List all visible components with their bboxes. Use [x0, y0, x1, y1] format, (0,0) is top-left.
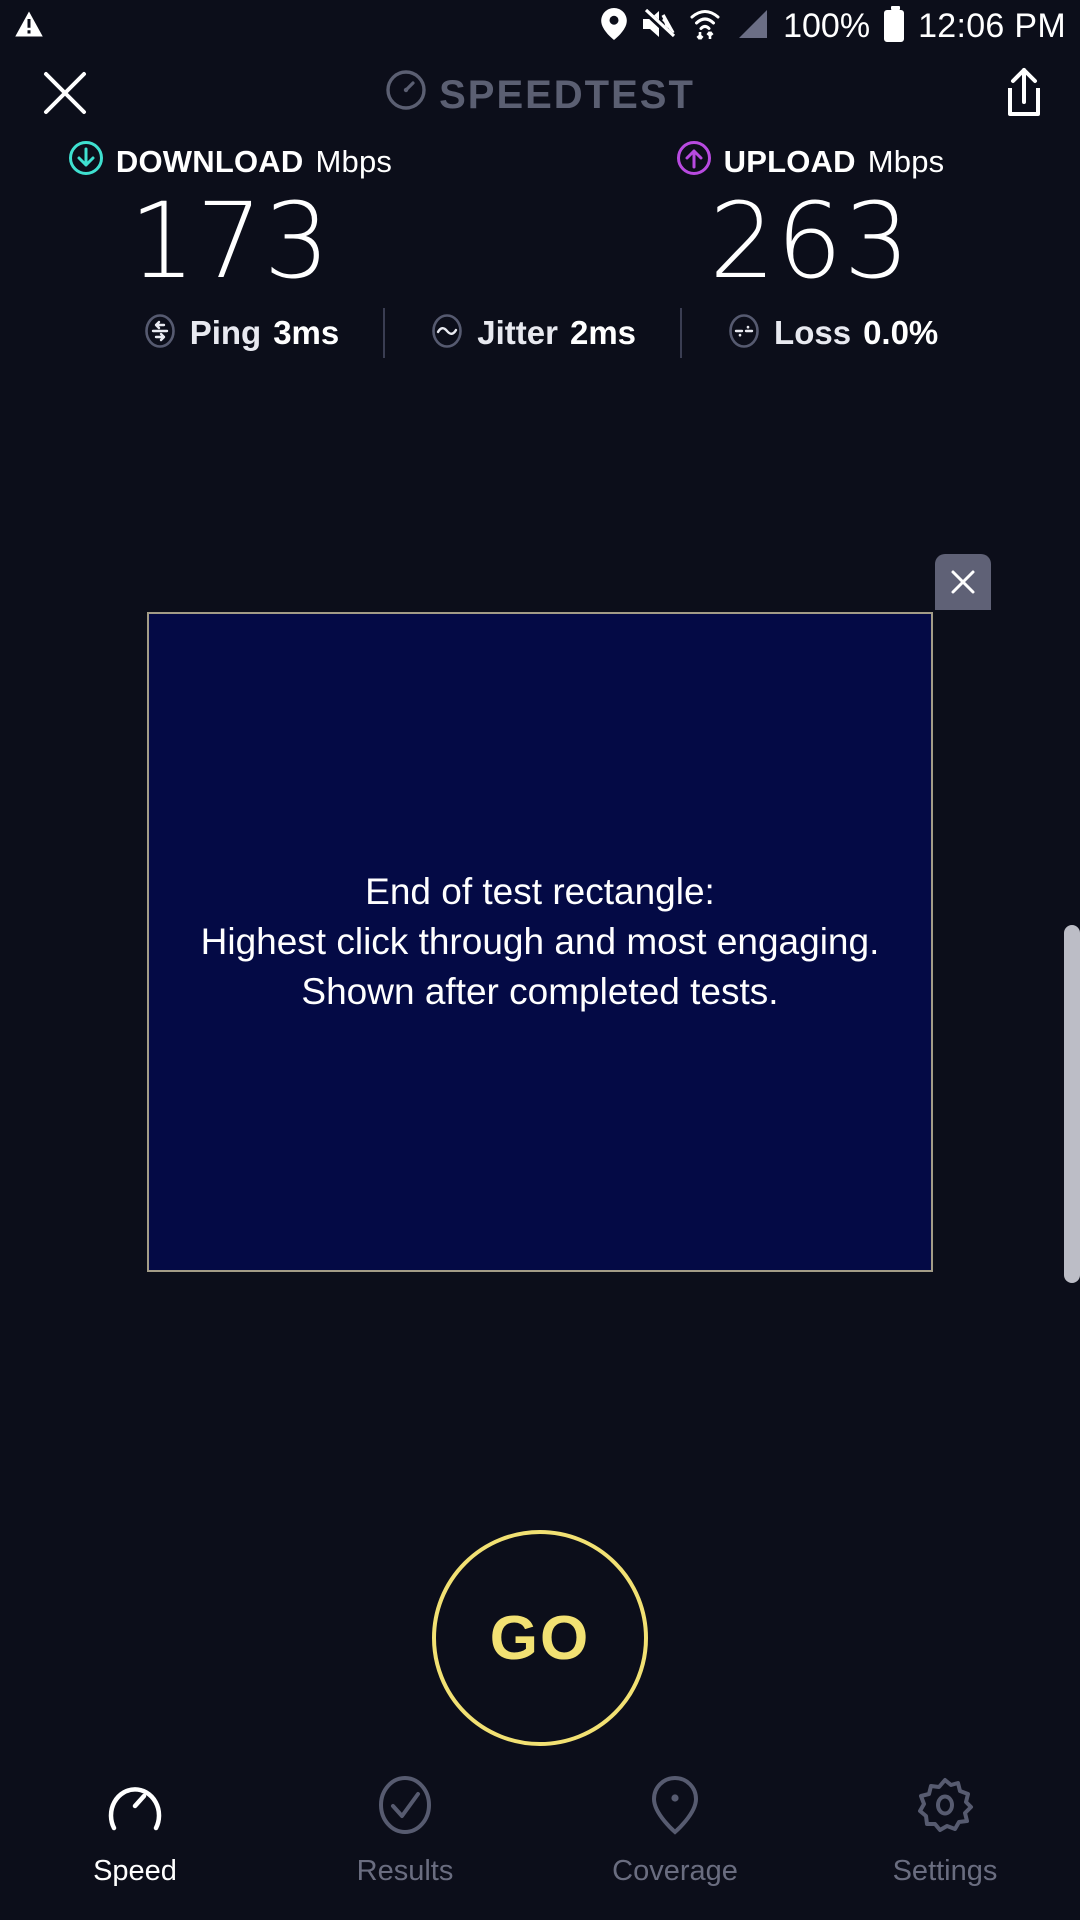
nav-item-coverage[interactable]: Coverage	[540, 1774, 810, 1888]
upload-label-row: UPLOAD Mbps	[676, 140, 945, 184]
loss-label: Loss	[774, 314, 851, 352]
status-bar-clock: 12:06 PM	[918, 7, 1066, 46]
network-stats-row: Ping 3ms Jitter 2ms	[0, 308, 1080, 358]
stats-divider	[383, 308, 385, 358]
upload-label: UPLOAD	[724, 144, 856, 180]
mute-icon	[641, 9, 675, 44]
warning-triangle-icon	[14, 10, 44, 43]
loss-stat: Loss 0.0%	[726, 313, 938, 354]
advertisement-banner[interactable]: End of test rectangle: Highest click thr…	[147, 612, 933, 1272]
speedometer-icon	[104, 1774, 166, 1841]
bottom-navigation-bar: Speed Results Coverage	[0, 1760, 1080, 1920]
nav-label-coverage: Coverage	[612, 1855, 738, 1888]
nav-label-results: Results	[357, 1855, 454, 1888]
download-metric: DOWNLOAD Mbps 173	[0, 140, 540, 294]
speedtest-app-screen: 100% 12:06 PM SPEEDTEST	[0, 0, 1080, 1920]
jitter-label: Jitter	[477, 314, 558, 352]
ping-value: 3ms	[273, 314, 339, 352]
download-label: DOWNLOAD	[116, 144, 304, 180]
ad-line-1: End of test rectangle:	[201, 867, 880, 917]
jitter-icon	[429, 313, 465, 354]
ad-close-icon[interactable]	[935, 554, 991, 610]
check-circle-icon	[374, 1774, 436, 1841]
loss-value: 0.0%	[863, 314, 938, 352]
share-icon[interactable]	[1000, 66, 1048, 125]
gear-icon	[914, 1774, 976, 1841]
ad-text-block: End of test rectangle: Highest click thr…	[201, 867, 880, 1017]
wifi-icon	[689, 8, 721, 45]
nav-item-speed[interactable]: Speed	[0, 1774, 270, 1888]
download-value: 173	[129, 188, 331, 294]
jitter-stat: Jitter 2ms	[429, 313, 636, 354]
page-title: SPEEDTEST	[0, 69, 1080, 121]
speedtest-gauge-icon	[385, 69, 427, 121]
status-bar-left	[14, 10, 44, 43]
ping-icon	[142, 313, 178, 354]
page-scrollbar[interactable]	[1064, 925, 1080, 1283]
advertisement-container: End of test rectangle: Highest click thr…	[147, 612, 933, 1272]
nav-item-results[interactable]: Results	[270, 1774, 540, 1888]
results-panel: DOWNLOAD Mbps 173 UPLOAD Mbps 263	[0, 140, 1080, 358]
ping-label: Ping	[190, 314, 262, 352]
nav-label-settings: Settings	[893, 1855, 998, 1888]
battery-full-icon	[884, 10, 904, 42]
status-bar: 100% 12:06 PM	[0, 0, 1080, 52]
go-button-label: GO	[490, 1603, 590, 1674]
upload-unit: Mbps	[868, 144, 945, 180]
map-pin-icon	[644, 1774, 706, 1841]
ad-line-3: Shown after completed tests.	[201, 967, 880, 1017]
upload-value: 263	[709, 188, 911, 294]
nav-label-speed: Speed	[93, 1855, 177, 1888]
download-unit: Mbps	[315, 144, 392, 180]
upload-metric: UPLOAD Mbps 263	[540, 140, 1080, 294]
close-icon[interactable]	[40, 68, 90, 123]
status-bar-right: 100% 12:06 PM	[601, 7, 1066, 46]
stats-divider	[680, 308, 682, 358]
jitter-value: 2ms	[570, 314, 636, 352]
loss-icon	[726, 313, 762, 354]
download-label-row: DOWNLOAD Mbps	[68, 140, 392, 184]
location-pin-icon	[601, 8, 627, 45]
battery-percent-label: 100%	[783, 7, 870, 46]
app-header: SPEEDTEST	[0, 52, 1080, 138]
cellular-signal-icon	[735, 8, 769, 45]
download-arrow-icon	[68, 140, 104, 184]
ping-stat: Ping 3ms	[142, 313, 340, 354]
go-button[interactable]: GO	[432, 1530, 648, 1746]
ad-line-2: Highest click through and most engaging.	[201, 917, 880, 967]
speed-values-row: DOWNLOAD Mbps 173 UPLOAD Mbps 263	[0, 140, 1080, 294]
upload-arrow-icon	[676, 140, 712, 184]
app-title-text: SPEEDTEST	[439, 73, 695, 118]
nav-item-settings[interactable]: Settings	[810, 1774, 1080, 1888]
